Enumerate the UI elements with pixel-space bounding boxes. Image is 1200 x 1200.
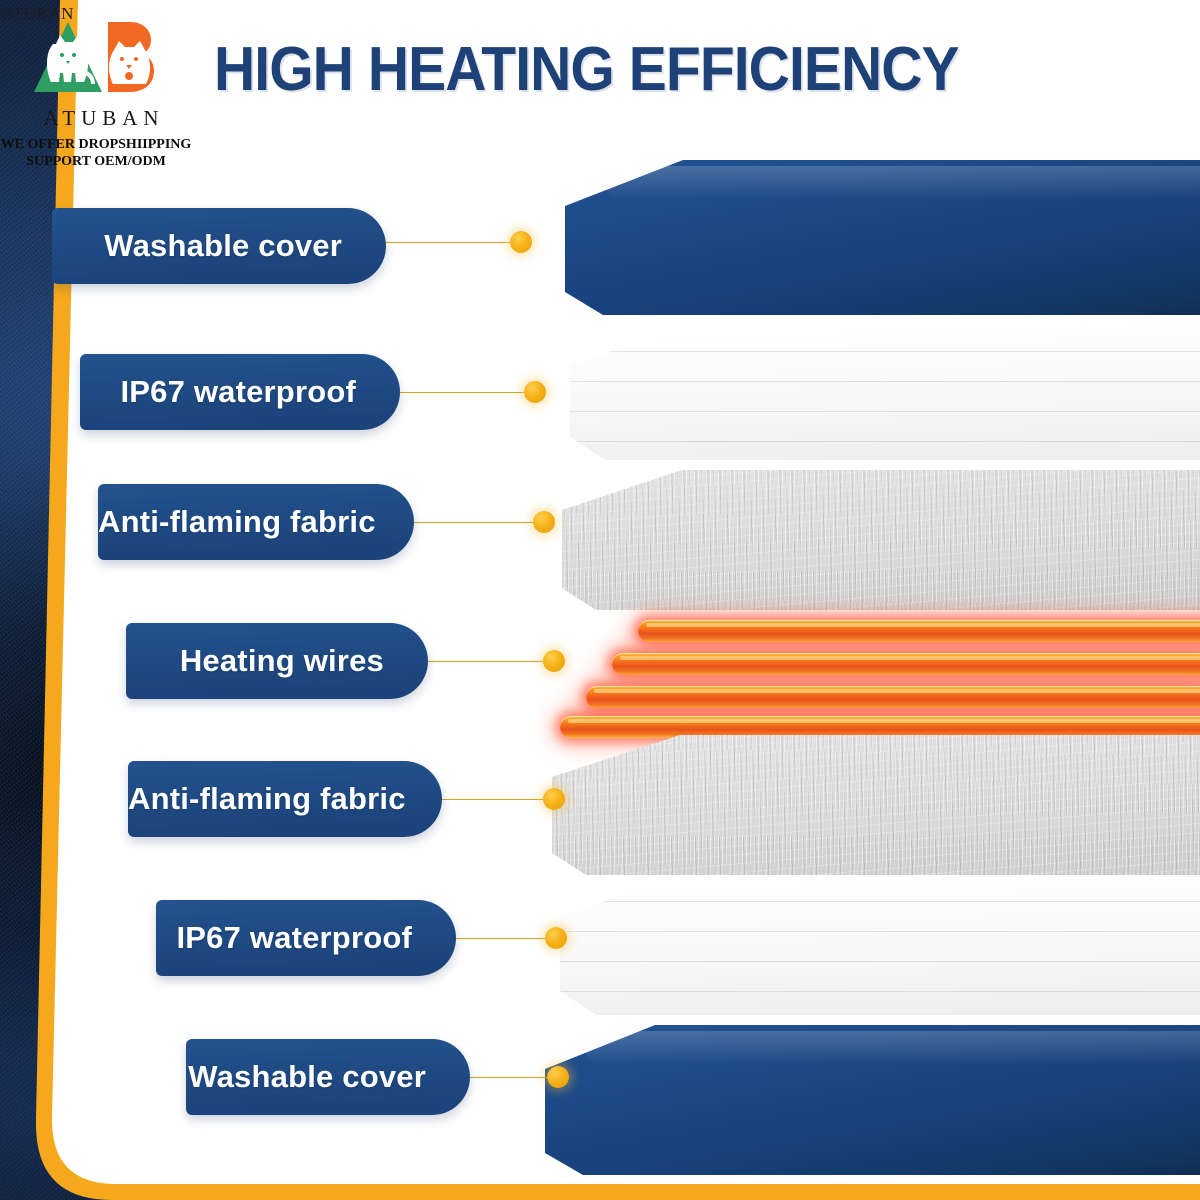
connector-dot-7: [547, 1066, 569, 1088]
heating-wire-1: [638, 620, 1200, 642]
layer-label-text: IP67 waterproof: [176, 920, 412, 956]
heating-wire-2: [612, 653, 1200, 675]
logo-tagline-line2: SUPPORT OEM/ODM: [0, 153, 196, 170]
connector-dot-4: [543, 650, 565, 672]
layer-label-antiflaming-top[interactable]: Anti-flaming fabric: [98, 484, 414, 560]
layer-label-ip67-bottom[interactable]: IP67 waterproof: [156, 900, 456, 976]
connector-line-3: [414, 522, 538, 523]
connector-dot-5: [543, 788, 565, 810]
connector-line-4: [428, 661, 548, 662]
layer-label-antiflaming-bottom[interactable]: Anti-flaming fabric: [128, 761, 442, 837]
atuban-logo-icon: [30, 18, 170, 102]
layer-label-text: Heating wires: [180, 643, 384, 679]
layer-heating-wires: [560, 612, 1200, 740]
heating-wire-3: [586, 686, 1200, 708]
layer-label-text: Washable cover: [104, 228, 342, 264]
connector-dot-6: [545, 927, 567, 949]
layer-label-text: Anti-flaming fabric: [98, 504, 376, 540]
layer-label-washable-cover-top[interactable]: Washable cover: [52, 208, 386, 284]
connector-dot-1: [510, 231, 532, 253]
connector-line-5: [442, 799, 550, 800]
layer-label-text: Anti-flaming fabric: [128, 781, 406, 817]
connector-dot-2: [524, 381, 546, 403]
layer-label-text: IP67 waterproof: [120, 374, 356, 410]
layer-label-text: Washable cover: [188, 1059, 426, 1095]
connector-dot-3: [533, 511, 555, 533]
layer-slab-ip67-top: [570, 325, 1200, 460]
layer-slab-washable-cover-bottom: [545, 1025, 1200, 1175]
layer-slab-antiflaming-top: [562, 470, 1200, 610]
layer-slab-washable-cover-top: [565, 160, 1200, 315]
layer-slab-antiflaming-bottom: [552, 735, 1200, 875]
layer-label-ip67-top[interactable]: IP67 waterproof: [80, 354, 400, 430]
exploded-layer-stack: [0, 0, 1200, 1200]
logo-tagline-line1: WE OFFER DROPSHIIPPING: [0, 136, 196, 153]
connector-line-6: [456, 938, 552, 939]
layer-label-washable-cover-bottom[interactable]: Washable cover: [186, 1039, 470, 1115]
logo-tagline: WE OFFER DROPSHIIPPING SUPPORT OEM/ODM: [0, 136, 196, 170]
page-title: HIGH HEATING EFFICIENCY: [214, 34, 959, 105]
infographic-canvas: Washable cover IP67 waterproof Anti-flam…: [0, 0, 1200, 1200]
connector-line-2: [400, 392, 528, 393]
layer-slab-ip67-bottom: [560, 875, 1200, 1015]
connector-line-1: [386, 242, 514, 243]
logo-brand-name: ATUBAN: [14, 106, 194, 131]
connector-line-7: [470, 1077, 554, 1078]
layer-label-heating-wires[interactable]: Heating wires: [126, 623, 428, 699]
